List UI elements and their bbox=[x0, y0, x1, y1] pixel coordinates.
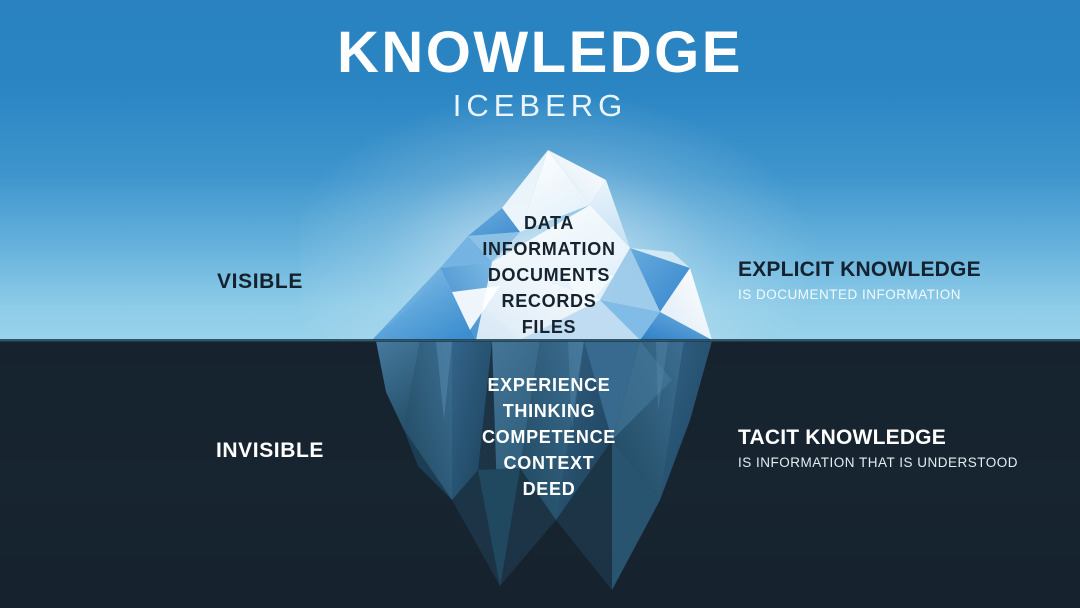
tacit-knowledge-block: TACIT KNOWLEDGE IS INFORMATION THAT IS U… bbox=[738, 426, 1068, 471]
explicit-knowledge-block: EXPLICIT KNOWLEDGE IS DOCUMENTED INFORMA… bbox=[738, 258, 1068, 303]
explicit-knowledge-subtitle: IS DOCUMENTED INFORMATION bbox=[738, 287, 1068, 303]
list-item: THINKING bbox=[399, 398, 699, 424]
explicit-knowledge-title: EXPLICIT KNOWLEDGE bbox=[738, 258, 1068, 282]
list-item: COMPETENCE bbox=[399, 424, 699, 450]
list-item: DOCUMENTS bbox=[399, 262, 699, 288]
below-water-item-list: EXPERIENCE THINKING COMPETENCE CONTEXT D… bbox=[399, 372, 699, 502]
knowledge-iceberg-infographic: KNOWLEDGE ICEBERG VISIBLE INVISIBLE EXPL… bbox=[0, 0, 1080, 608]
label-invisible: INVISIBLE bbox=[160, 440, 380, 461]
list-item: EXPERIENCE bbox=[399, 372, 699, 398]
page-subtitle: ICEBERG bbox=[0, 90, 1080, 121]
page-title: KNOWLEDGE bbox=[0, 24, 1080, 82]
list-item: INFORMATION bbox=[399, 236, 699, 262]
above-water-item-list: DATA INFORMATION DOCUMENTS RECORDS FILES bbox=[399, 210, 699, 340]
label-visible: VISIBLE bbox=[160, 271, 360, 292]
list-item: CONTEXT bbox=[399, 450, 699, 476]
list-item: RECORDS bbox=[399, 288, 699, 314]
tacit-knowledge-subtitle: IS INFORMATION THAT IS UNDERSTOOD bbox=[738, 455, 1068, 471]
list-item: DATA bbox=[399, 210, 699, 236]
list-item: DEED bbox=[399, 476, 699, 502]
tacit-knowledge-title: TACIT KNOWLEDGE bbox=[738, 426, 1068, 450]
list-item: FILES bbox=[399, 314, 699, 340]
